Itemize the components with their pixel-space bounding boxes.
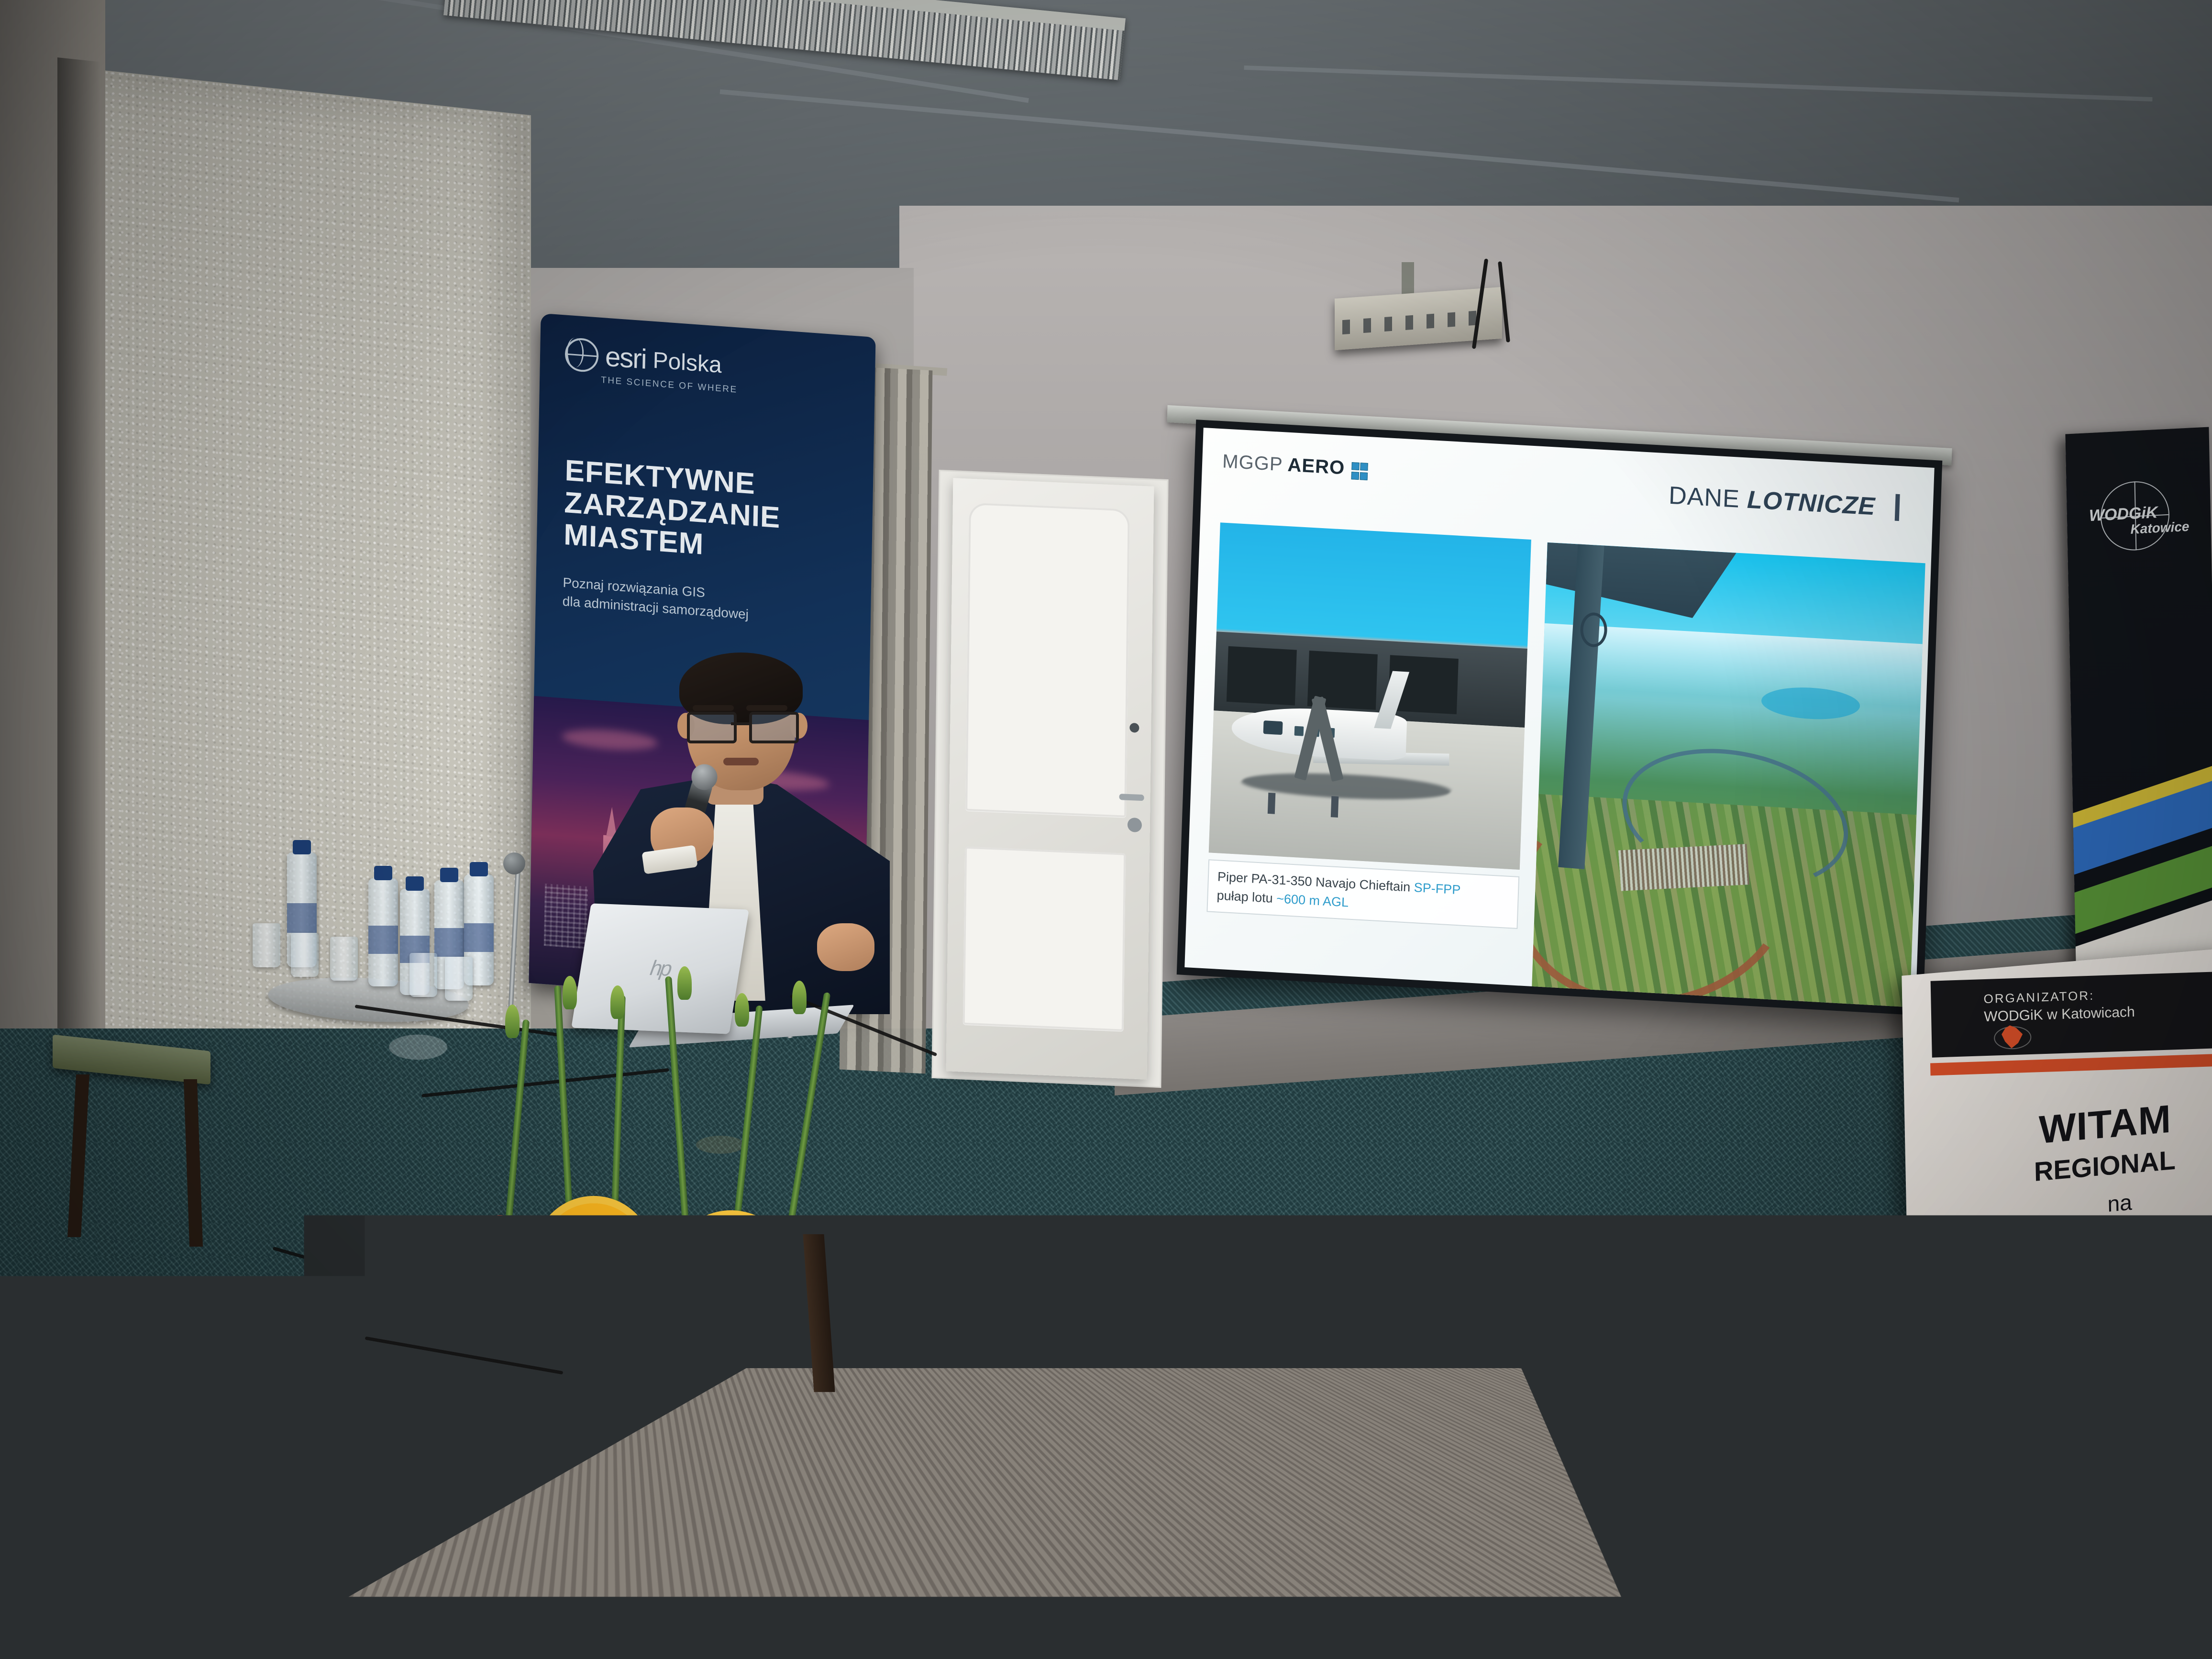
hand-right [817, 923, 874, 971]
eyebrow [746, 705, 787, 711]
esri-region: Polska [653, 347, 722, 378]
bottle-label [464, 923, 494, 952]
title-divider-bar [1895, 494, 1900, 521]
voivodeship-block: Województwo Śląskie [1902, 1260, 2182, 1618]
cabin-window [1294, 726, 1304, 736]
projector-ports [1342, 310, 1486, 334]
mouth [723, 758, 759, 765]
sunflower [534, 1196, 653, 1316]
organizer-bar: ORGANIZATOR: WODGiK w Katowicach [1931, 969, 2212, 1058]
slide-title-bold: LOTNICZE [1747, 486, 1876, 521]
room-door[interactable] [946, 478, 1154, 1080]
door-handle[interactable] [1119, 794, 1144, 801]
mggp-aero-logo: MGGP AERO [1222, 451, 1367, 480]
na-text: na [2107, 1189, 2132, 1217]
organizer-name: WODGiK w Katowicach [1984, 1004, 2135, 1025]
sunflower [751, 1306, 852, 1406]
welcome-heading: WITAM [2038, 1096, 2172, 1153]
slide-title-light: DANE [1668, 482, 1740, 513]
wodgik-small-logo [1994, 1024, 2030, 1050]
caption-registration: SP-FPP [1414, 880, 1461, 897]
eagle-shape [1978, 1330, 2002, 1360]
eyeglasses-icon [687, 712, 795, 739]
photo-aerial-oblique [1532, 542, 1925, 1007]
eyebrow [693, 705, 734, 711]
flower-bud [677, 966, 692, 1000]
lens-left [687, 712, 737, 743]
door-panel-top [965, 502, 1130, 818]
slide-title: DANE LOTNICZE [1668, 481, 1900, 523]
caption-altitude-label: pułap lotu [1217, 888, 1277, 906]
globe-icon [565, 337, 599, 373]
projector-mount [1402, 262, 1414, 298]
projection-screen: MGGP AERO DANE LOTNICZE [1177, 420, 1943, 1016]
corner-shadow [57, 57, 100, 1162]
flower-bud [563, 976, 577, 1009]
glasses-bridge [731, 722, 750, 725]
conference-room-scene: MGGP AERO DANE LOTNICZE [0, 0, 2212, 1659]
flower-bud [735, 993, 749, 1027]
wall-socket [1409, 1286, 1428, 1313]
flower-bud [505, 1005, 520, 1038]
esri-headline: EFEKTYWNE ZARZĄDZANIE MIASTEM [537, 381, 874, 573]
peephole-icon [1129, 723, 1139, 733]
photo-aircraft-on-apron [1209, 522, 1531, 870]
welcome-rollup-banner: ORGANIZATOR: WODGiK w Katowicach WITAM R… [1902, 947, 2212, 1659]
bottle-label [434, 928, 464, 956]
logo-squares-icon [1351, 462, 1367, 480]
door-panel-bottom [962, 846, 1125, 1031]
landing-gear [1268, 792, 1276, 814]
aircraft [1229, 662, 1477, 807]
microphone-head[interactable] [503, 852, 525, 874]
wodgik-logo: WODGiK Katowice [2091, 475, 2174, 551]
bottle-label [287, 903, 317, 933]
wodgik-back-banner: WODGiK Katowice [2065, 427, 2212, 1037]
organizer-label: ORGANIZATOR: [1983, 988, 2094, 1007]
caption-altitude-value: ~600 m AGL [1276, 891, 1349, 909]
skyscraper [544, 884, 588, 949]
sunflower [708, 1464, 794, 1550]
slide-caption: Piper PA-31-350 Navajo Chieftain SP-FPP … [1206, 859, 1519, 929]
wodgik-logo-line2: Katowice [2130, 519, 2190, 537]
landing-gear [1331, 796, 1339, 818]
cockpit-window [1263, 720, 1283, 735]
village [1618, 844, 1749, 891]
drinking-glass[interactable] [291, 933, 319, 977]
bottle-cap [470, 862, 488, 876]
drinking-glass[interactable] [330, 937, 358, 981]
flower-stem [554, 985, 581, 1382]
esri-wordmark: esri [605, 343, 646, 373]
bottle-cap [406, 876, 424, 891]
slide-surface: MGGP AERO DANE LOTNICZE [1184, 428, 1934, 1007]
water-bottle[interactable] [368, 878, 398, 986]
bottle-cap [374, 866, 392, 880]
drinking-glass[interactable] [253, 923, 280, 967]
door-lock-icon[interactable] [1128, 818, 1142, 832]
bottle-label [368, 926, 398, 954]
flower-stem [606, 995, 626, 1373]
silesian-eagle-crest-icon [1971, 1322, 2012, 1374]
lens-right [749, 712, 799, 743]
bottle-cap [440, 868, 458, 882]
sunflower [431, 1253, 498, 1320]
flower-bud [610, 985, 625, 1019]
bottle-cap [293, 840, 311, 854]
logo-text-mggp: MGGP [1222, 451, 1283, 476]
logo-text-aero: AERO [1287, 454, 1345, 479]
flower-bud [792, 981, 807, 1014]
